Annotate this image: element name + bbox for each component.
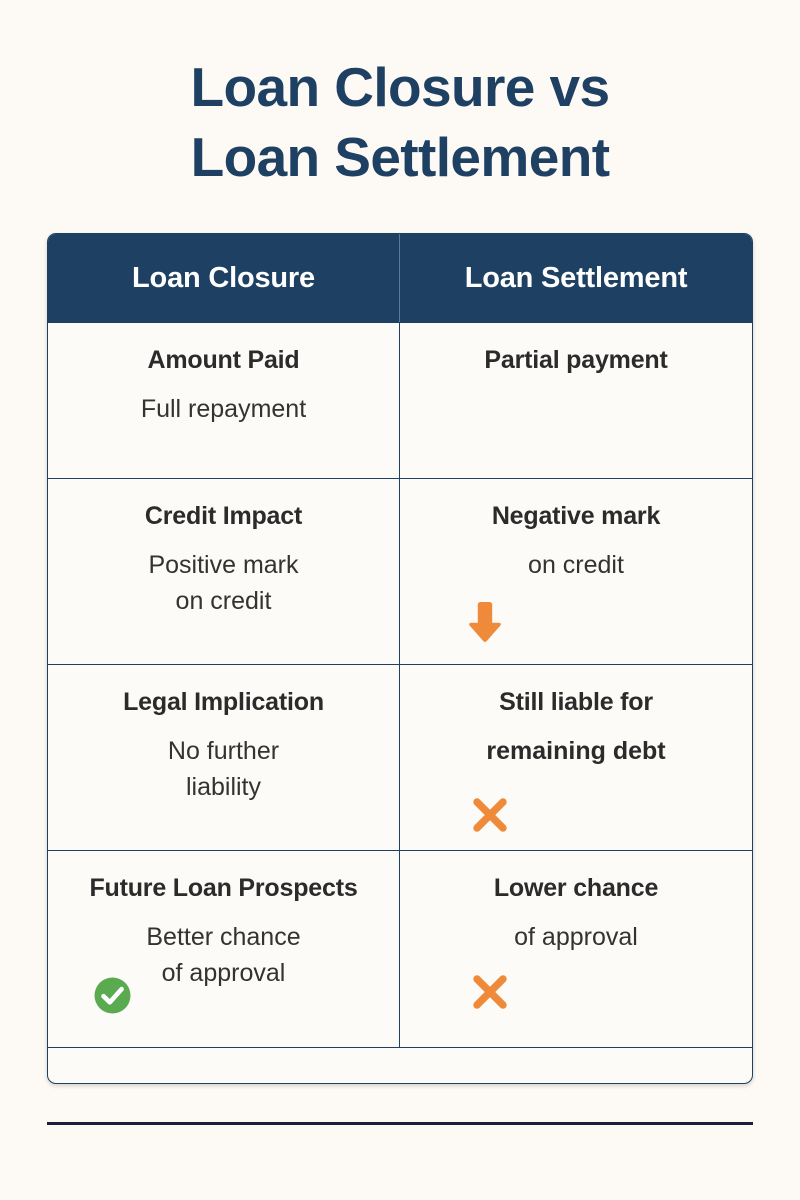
cell-detail: Full repayment	[141, 392, 306, 428]
cell-credit-impact-settlement: Negative mark on credit	[400, 479, 752, 664]
cell-heading: Credit Impact	[145, 501, 302, 532]
cell-heading: Legal Implication	[123, 687, 324, 718]
cell-amount-paid-closure: Amount Paid Full repayment	[48, 323, 400, 478]
cell-future-prospects-closure: Future Loan Prospects Better chance of a…	[48, 851, 400, 1047]
cell-heading: Amount Paid	[148, 345, 300, 376]
table-row: Credit Impact Positive mark on credit Ne…	[48, 478, 752, 664]
column-header-loan-settlement: Loan Settlement	[400, 234, 752, 322]
table-row: Amount Paid Full repayment Partial payme…	[48, 322, 752, 478]
cell-amount-paid-settlement: Partial payment	[400, 323, 752, 478]
cell-detail: on credit	[528, 548, 624, 584]
check-circle-icon	[93, 976, 132, 1015]
cross-mark-icon	[470, 795, 510, 835]
cell-heading: Negative mark	[492, 501, 660, 532]
cell-heading: Lower chance	[494, 873, 658, 904]
cell-detail: Better chance of approval	[146, 920, 300, 991]
cell-legal-implication-settlement: Still liable for remaining debt	[400, 665, 752, 850]
cell-detail: remaining debt	[486, 734, 665, 770]
table-footer-row	[48, 1047, 752, 1083]
page-title-line-1: Loan Closure vs	[0, 52, 800, 122]
page-title-line-2: Loan Settlement	[0, 122, 800, 192]
table-row: Legal Implication No further liability S…	[48, 664, 752, 850]
table-row: Future Loan Prospects Better chance of a…	[48, 850, 752, 1047]
arrow-down-icon	[466, 600, 504, 644]
column-header-loan-closure: Loan Closure	[48, 234, 400, 322]
cell-heading: Future Loan Prospects	[89, 873, 357, 904]
cell-legal-implication-closure: Legal Implication No further liability	[48, 665, 400, 850]
cross-mark-icon	[470, 972, 510, 1012]
table-footer-spacer	[48, 1048, 752, 1083]
cell-detail: No further liability	[168, 734, 279, 805]
cell-detail: of approval	[514, 920, 638, 956]
table-header-row: Loan Closure Loan Settlement	[48, 234, 752, 322]
cell-heading: Partial payment	[484, 345, 667, 376]
bottom-divider	[47, 1122, 753, 1125]
cell-future-prospects-settlement: Lower chance of approval	[400, 851, 752, 1047]
cell-detail: Positive mark on credit	[148, 548, 298, 619]
comparison-table: Loan Closure Loan Settlement Amount Paid…	[47, 233, 753, 1084]
cell-credit-impact-closure: Credit Impact Positive mark on credit	[48, 479, 400, 664]
cell-heading: Still liable for	[499, 687, 653, 718]
page-title: Loan Closure vs Loan Settlement	[0, 0, 800, 193]
